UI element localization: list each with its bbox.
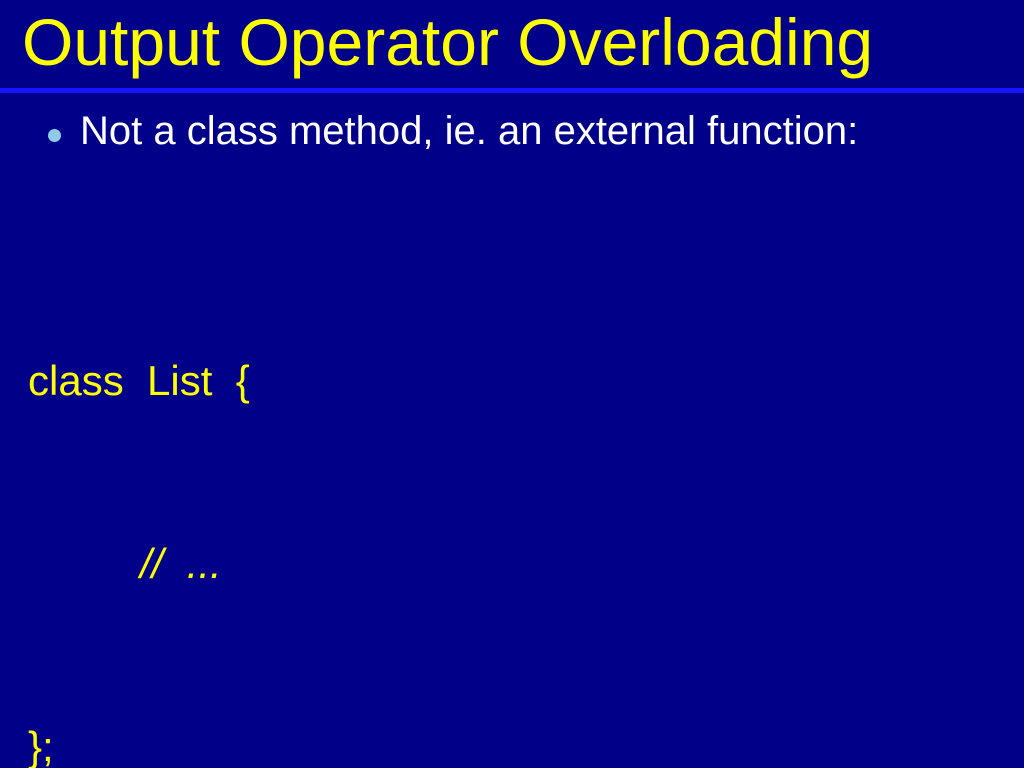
bullet-dot-icon <box>48 129 61 142</box>
bullet-item-label: Not a class method, ie. an external func… <box>80 108 880 155</box>
bullet-list: Not a class method, ie. an external func… <box>40 108 980 155</box>
code-line-comment: // ... <box>28 533 1018 594</box>
code-block: class List { // ... }; ostream& operator… <box>28 228 1018 768</box>
code-line: class List { <box>28 350 1018 411</box>
slide: Output Operator Overloading Not a class … <box>0 0 1024 768</box>
code-line: }; <box>28 716 1018 768</box>
list-item: Not a class method, ie. an external func… <box>40 108 980 155</box>
title-divider <box>0 88 1024 93</box>
page-title: Output Operator Overloading <box>22 0 873 86</box>
slide-title-area: Output Operator Overloading <box>0 0 1024 88</box>
